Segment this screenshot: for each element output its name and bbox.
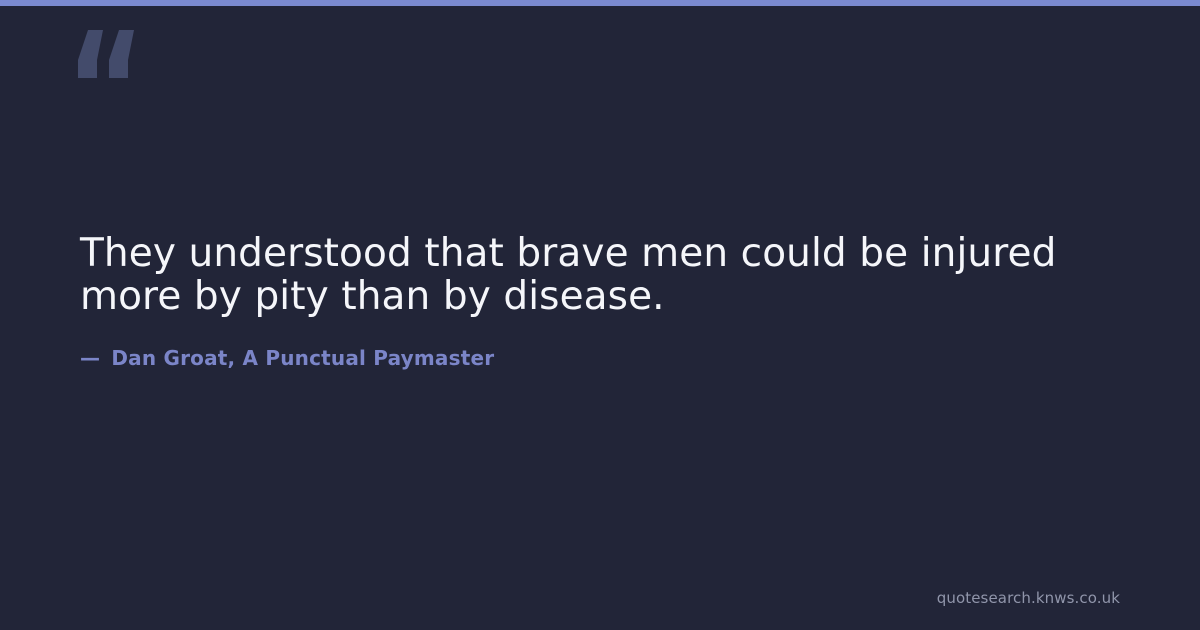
footer-site-url: quotesearch.knws.co.uk	[937, 588, 1120, 608]
quote-body: They understood that brave men could be …	[80, 232, 1130, 318]
attribution-text: Dan Groat, A Punctual Paymaster	[111, 346, 494, 370]
attribution-dash: —	[80, 346, 100, 370]
top-accent-bar	[0, 0, 1200, 6]
quote-card: They understood that brave men could be …	[0, 0, 1200, 630]
quote-text: They understood that brave men could be …	[80, 232, 1130, 318]
quote-attribution: — Dan Groat, A Punctual Paymaster	[80, 344, 494, 372]
double-quote-icon	[78, 30, 148, 90]
